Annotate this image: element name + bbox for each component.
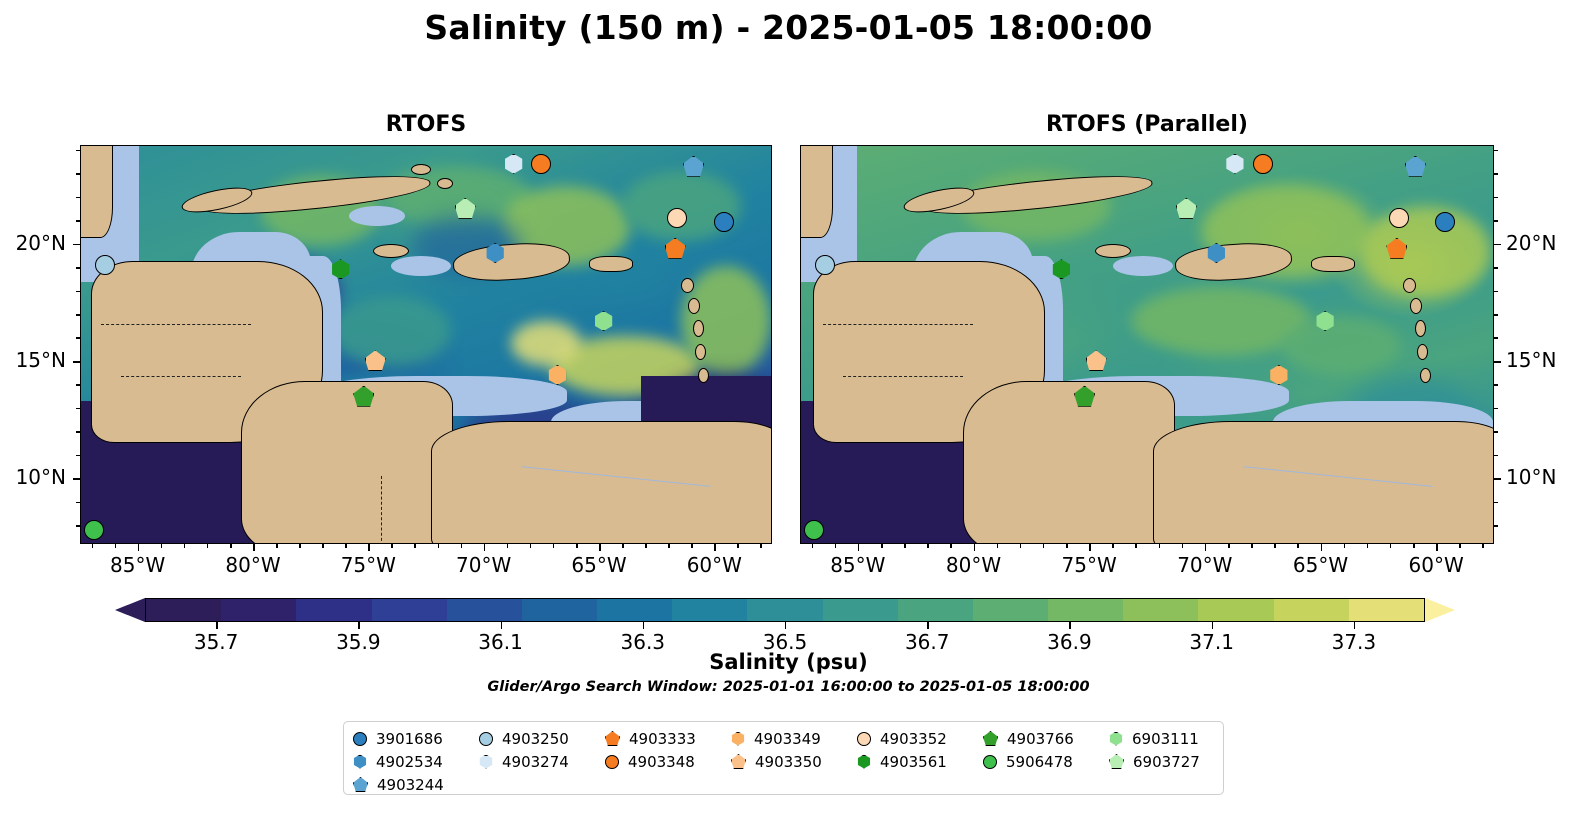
x-axis-minor-tick [1182, 544, 1184, 548]
x-axis-minor-tick [927, 544, 929, 548]
x-axis-minor-tick [1274, 544, 1276, 548]
legend-item-4903352[interactable]: 4903352 [857, 730, 983, 748]
search-window-annotation: Glider/Argo Search Window: 2025-01-01 16… [0, 679, 1577, 695]
colorbar-swatch-3 [372, 599, 447, 621]
x-axis-minor-tick [1135, 544, 1137, 548]
legend-item-label: 6903727 [1133, 753, 1200, 771]
x-axis-tick-label: 70°W [1145, 553, 1265, 577]
x-axis-minor-tick [276, 544, 278, 548]
legend-item-label: 4903244 [377, 776, 444, 794]
landmass-venezuela [1153, 421, 1494, 544]
eddy-texture [511, 321, 581, 366]
float-marker-3901686[interactable] [714, 212, 734, 232]
y-axis-minor-tick [76, 197, 80, 199]
colorbar-swatch-10 [898, 599, 973, 621]
colorbar-swatch-15 [1274, 599, 1349, 621]
legend-item-label: 4903766 [1007, 730, 1074, 748]
x-axis-tick [714, 544, 716, 551]
float-marker-4903348[interactable] [531, 154, 551, 174]
x-axis-tick [138, 544, 140, 551]
colorbar-swatch-16 [1349, 599, 1424, 621]
y-axis-tick [73, 244, 80, 246]
x-axis-minor-tick [881, 544, 883, 548]
colorbar-tick [927, 622, 928, 629]
colorbar-title: Salinity (psu) [0, 650, 1577, 674]
x-axis-tick-label: 85°W [798, 553, 918, 577]
y-axis-minor-tick [76, 337, 80, 339]
x-axis-minor-tick [1251, 544, 1253, 548]
x-axis-tick [253, 544, 255, 551]
x-axis-tick [858, 544, 860, 551]
x-axis-tick [1321, 544, 1323, 551]
x-axis-minor-tick [950, 544, 952, 548]
panel-title-left: RTOFS [80, 112, 772, 137]
landmass-bahamas [437, 178, 453, 189]
landmass-lesser-antilles [1415, 320, 1426, 337]
landmass-puerto-rico [589, 256, 633, 272]
legend-item-4903349[interactable]: 4903349 [731, 730, 857, 748]
colorbar-tick [785, 622, 786, 629]
colorbar-tick [501, 622, 502, 629]
y-axis-tick [73, 361, 80, 363]
pentagon-marker-icon [1109, 754, 1124, 769]
colorbar-swatch-5 [522, 599, 597, 621]
map-panel-rtofs[interactable] [80, 145, 772, 544]
hexagon-marker-icon [731, 732, 745, 746]
y-axis-minor-tick [1494, 431, 1498, 433]
legend-item-6903111[interactable]: 6903111 [1109, 730, 1235, 748]
landmass-venezuela [431, 421, 772, 544]
x-axis-minor-tick [1413, 544, 1415, 548]
legend-item-label: 4902534 [376, 753, 443, 771]
colorbar-tick [643, 622, 644, 629]
x-axis-tick-label: 65°W [539, 553, 659, 577]
x-axis-tick-label: 70°W [424, 553, 544, 577]
x-axis-minor-tick [1390, 544, 1392, 548]
circle-marker-icon [983, 755, 997, 769]
x-axis-minor-tick [1297, 544, 1299, 548]
x-axis-tick-label: 60°W [1376, 553, 1496, 577]
y-axis-minor-tick [1494, 267, 1498, 269]
x-axis-minor-tick [115, 544, 117, 548]
landmass-lesser-antilles [681, 278, 694, 293]
landmass-jamaica [373, 244, 409, 258]
x-axis-minor-tick [184, 544, 186, 548]
x-axis-minor-tick [668, 544, 670, 548]
x-axis-tick [1089, 544, 1091, 551]
x-axis-tick [1205, 544, 1207, 551]
y-axis-minor-tick [76, 314, 80, 316]
colorbar-swatch-7 [672, 599, 747, 621]
figure-title: Salinity (150 m) - 2025-01-05 18:00:00 [0, 8, 1577, 47]
landmass-lesser-antilles [698, 368, 709, 383]
legend-item-label: 4903349 [754, 730, 821, 748]
x-axis-tick-label: 80°W [193, 553, 313, 577]
colorbar-swatch-14 [1198, 599, 1273, 621]
x-axis-minor-tick [835, 544, 837, 548]
legend-item-label: 4903350 [755, 753, 822, 771]
y-axis-tick [73, 478, 80, 480]
eddy-texture [1361, 206, 1491, 296]
y-axis-minor-tick [76, 525, 80, 527]
float-marker-4903250[interactable] [95, 255, 115, 275]
legend-item-4903274[interactable]: 4903274 [479, 753, 605, 771]
x-axis-minor-tick [691, 544, 693, 548]
y-axis-minor-tick [1494, 291, 1498, 293]
landmass-jamaica [1095, 244, 1131, 258]
y-axis-tick [1494, 244, 1501, 246]
x-axis-tick [599, 544, 601, 551]
x-axis-minor-tick [997, 544, 999, 548]
x-axis-minor-tick [461, 544, 463, 548]
pentagon-marker-icon [605, 731, 620, 746]
circle-marker-icon [605, 755, 619, 769]
legend-item-label: 4903352 [880, 730, 947, 748]
x-axis-minor-tick [576, 544, 578, 548]
colorbar-swatch-0 [146, 599, 221, 621]
legend-item-label: 3901686 [376, 730, 443, 748]
y-axis-minor-tick [1494, 384, 1498, 386]
y-axis-minor-tick [1494, 408, 1498, 410]
x-axis-minor-tick [1482, 544, 1484, 548]
shelf-water [1113, 256, 1173, 276]
pentagon-marker-icon [731, 754, 746, 769]
colorbar-tick [1069, 622, 1070, 629]
colorbar-swatch-9 [823, 599, 898, 621]
x-axis-minor-tick [1344, 544, 1346, 548]
x-axis-minor-tick [1066, 544, 1068, 548]
x-axis-tick-label: 85°W [78, 553, 198, 577]
x-axis-minor-tick [904, 544, 906, 548]
colorbar-swatch-13 [1123, 599, 1198, 621]
x-axis-minor-tick [391, 544, 393, 548]
landmass-lesser-antilles [1403, 278, 1416, 293]
legend-item-4903561[interactable]: 4903561 [857, 753, 983, 771]
map-panel-rtofs-parallel[interactable] [800, 145, 1494, 544]
landmass-florida [80, 145, 113, 238]
legend-item-4903350[interactable]: 4903350 [731, 753, 857, 771]
y-axis-minor-tick [76, 431, 80, 433]
y-axis-minor-tick [1494, 150, 1498, 152]
y-axis-minor-tick [1494, 455, 1498, 457]
colorbar[interactable] [115, 598, 1455, 622]
y-axis-minor-tick [1494, 502, 1498, 504]
legend-item-6903727[interactable]: 6903727 [1109, 753, 1235, 771]
y-axis-minor-tick [76, 173, 80, 175]
legend-item-4903250[interactable]: 4903250 [479, 730, 605, 748]
x-axis-minor-tick [92, 544, 94, 548]
x-axis-minor-tick [530, 544, 532, 548]
circle-marker-icon [479, 732, 493, 746]
colorbar-swatch-8 [747, 599, 822, 621]
x-axis-tick [1436, 544, 1438, 551]
x-axis-minor-tick [1159, 544, 1161, 548]
landmass-panama-colombia [241, 381, 453, 544]
colorbar-extend-min-arrow [115, 598, 145, 622]
country-border [381, 476, 384, 544]
x-axis-minor-tick [1459, 544, 1461, 548]
landmass-panama-colombia [963, 381, 1175, 544]
x-axis-minor-tick [622, 544, 624, 548]
x-axis-minor-tick [438, 544, 440, 548]
colorbar-swatch-2 [296, 599, 371, 621]
landmass-lesser-antilles [1410, 298, 1422, 314]
legend-item-4903348[interactable]: 4903348 [605, 753, 731, 771]
legend-item-5906478[interactable]: 5906478 [983, 753, 1109, 771]
colorbar-tick [1212, 622, 1213, 629]
float-marker-5906478[interactable] [84, 520, 104, 540]
y-axis-minor-tick [76, 502, 80, 504]
x-axis-tick-label: 75°W [1029, 553, 1149, 577]
landmass-puerto-rico [1311, 256, 1355, 272]
legend-item-label: 4903333 [629, 730, 696, 748]
x-axis-minor-tick [760, 544, 762, 548]
y-axis-minor-tick [76, 455, 80, 457]
y-axis-tick [1494, 478, 1501, 480]
y-axis-minor-tick [1494, 220, 1498, 222]
x-axis-minor-tick [207, 544, 209, 548]
hexagon-marker-icon [353, 755, 367, 769]
panel-title-right: RTOFS (Parallel) [800, 112, 1494, 137]
hexagon-marker-icon [857, 755, 871, 769]
x-axis-tick-label: 60°W [654, 553, 774, 577]
y-axis-tick-label: 20°N [0, 231, 66, 255]
pentagon-marker-icon [353, 777, 368, 792]
shelf-water [349, 206, 405, 226]
legend-item-label: 6903111 [1132, 730, 1199, 748]
y-axis-tick [1494, 361, 1501, 363]
y-axis-minor-tick [76, 408, 80, 410]
hexagon-marker-icon [479, 755, 493, 769]
x-axis-minor-tick [230, 544, 232, 548]
landmass-lesser-antilles [688, 298, 700, 314]
legend-item-label: 4903348 [628, 753, 695, 771]
y-axis-tick-label: 10°N [1506, 465, 1577, 489]
legend-item-label: 4903250 [502, 730, 569, 748]
x-axis-minor-tick [414, 544, 416, 548]
y-axis-minor-tick [76, 220, 80, 222]
colorbar-gradient [145, 598, 1425, 622]
x-axis-minor-tick [161, 544, 163, 548]
circle-marker-icon [857, 732, 871, 746]
colorbar-extend-max-arrow [1425, 598, 1455, 622]
y-axis-tick-label: 15°N [0, 348, 66, 372]
y-axis-minor-tick [76, 150, 80, 152]
y-axis-minor-tick [76, 267, 80, 269]
x-axis-minor-tick [345, 544, 347, 548]
x-axis-minor-tick [645, 544, 647, 548]
landmass-lesser-antilles [1420, 368, 1431, 383]
colorbar-swatch-11 [973, 599, 1048, 621]
legend-item-4902534[interactable]: 4902534 [353, 753, 479, 771]
x-axis-tick-label: 80°W [914, 553, 1034, 577]
float-marker-4903352[interactable] [1389, 208, 1409, 228]
y-axis-minor-tick [1494, 197, 1498, 199]
x-axis-minor-tick [1228, 544, 1230, 548]
legend-item-3901686[interactable]: 3901686 [353, 730, 479, 748]
y-axis-minor-tick [1494, 337, 1498, 339]
float-marker-5906478[interactable] [804, 520, 824, 540]
y-axis-tick-label: 15°N [1506, 348, 1577, 372]
x-axis-minor-tick [507, 544, 509, 548]
country-border [823, 324, 973, 325]
x-axis-tick-label: 65°W [1261, 553, 1381, 577]
y-axis-minor-tick [1494, 173, 1498, 175]
x-axis-minor-tick [553, 544, 555, 548]
country-border [843, 376, 963, 377]
x-axis-minor-tick [1020, 544, 1022, 548]
legend-item-4903244[interactable]: 4903244 [353, 776, 479, 794]
eddy-texture [331, 296, 451, 366]
eddy-texture [1281, 316, 1401, 376]
shelf-water [391, 256, 451, 276]
colorbar-swatch-12 [1048, 599, 1123, 621]
landmass-florida [800, 145, 833, 238]
x-axis-minor-tick [1367, 544, 1369, 548]
circle-marker-icon [353, 732, 367, 746]
x-axis-minor-tick [812, 544, 814, 548]
landmass-lesser-antilles [695, 344, 706, 360]
landmass-lesser-antilles [1417, 344, 1428, 360]
pentagon-marker-icon [983, 731, 998, 746]
colorbar-swatch-1 [221, 599, 296, 621]
x-axis-minor-tick [1112, 544, 1114, 548]
y-axis-tick-label: 20°N [1506, 231, 1577, 255]
x-axis-tick [974, 544, 976, 551]
colorbar-swatch-6 [597, 599, 672, 621]
country-border [121, 376, 241, 377]
colorbar-swatch-4 [447, 599, 522, 621]
legend-item-label: 5906478 [1006, 753, 1073, 771]
float-legend[interactable]: 3901686490325049033334903349490335249037… [343, 721, 1224, 795]
x-axis-minor-tick [322, 544, 324, 548]
y-axis-minor-tick [76, 291, 80, 293]
colorbar-tick [216, 622, 217, 629]
x-axis-minor-tick [299, 544, 301, 548]
legend-item-4903333[interactable]: 4903333 [605, 730, 731, 748]
float-marker-4903348[interactable] [1253, 154, 1273, 174]
y-axis-minor-tick [76, 384, 80, 386]
x-axis-minor-tick [737, 544, 739, 548]
y-axis-minor-tick [1494, 314, 1498, 316]
landmass-bahamas [411, 164, 431, 175]
colorbar-tick [1354, 622, 1355, 629]
hexagon-marker-icon [1109, 732, 1123, 746]
x-axis-tick [368, 544, 370, 551]
legend-item-label: 4903561 [880, 753, 947, 771]
x-axis-minor-tick [1043, 544, 1045, 548]
legend-item-label: 4903274 [502, 753, 569, 771]
x-axis-tick [484, 544, 486, 551]
legend-item-4903766[interactable]: 4903766 [983, 730, 1109, 748]
y-axis-tick-label: 10°N [0, 465, 66, 489]
country-border [101, 324, 251, 325]
x-axis-tick-label: 75°W [308, 553, 428, 577]
y-axis-minor-tick [1494, 525, 1498, 527]
colorbar-tick [358, 622, 359, 629]
landmass-lesser-antilles [693, 320, 704, 337]
